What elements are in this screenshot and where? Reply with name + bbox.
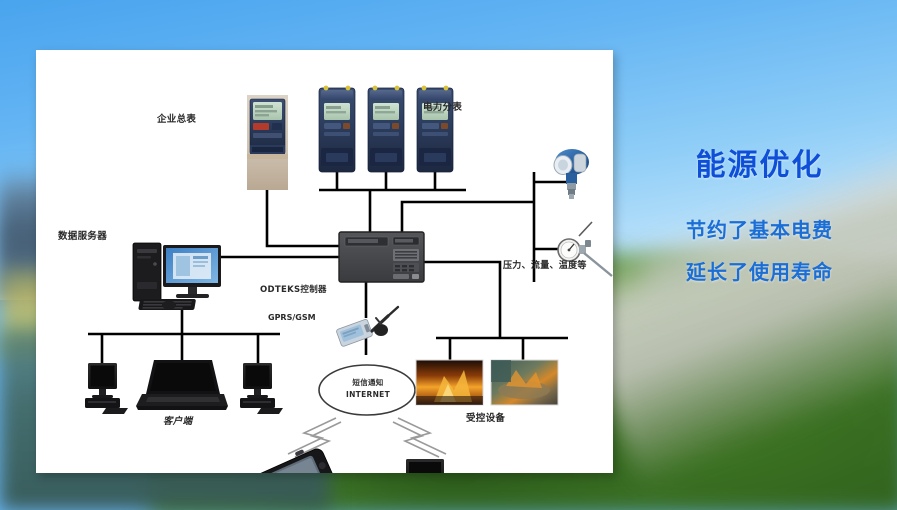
electric-meter-sub-icon-2 — [368, 86, 404, 172]
client-terminal-icon-laptop — [136, 360, 228, 410]
furnace-photo-icon-2 — [491, 360, 558, 405]
label-controller: ODTEKS控制器 — [260, 286, 327, 295]
label-cloud-line1: 短信通知 — [340, 379, 396, 387]
label-cloud-line2: INTERNET — [340, 391, 396, 399]
network-topology-diagram: 企业总表 电力分表 ODTEKS控制器 数据服务器 GPRS/GSM 短信通知 … — [36, 50, 613, 473]
marketing-copy: 能源优化 节约了基本电费 延长了使用寿命 — [622, 140, 897, 285]
slide-canvas: 企业总表 电力分表 ODTEKS控制器 数据服务器 GPRS/GSM 短信通知 … — [0, 0, 897, 510]
label-clients: 客户端 — [163, 417, 192, 427]
client-terminal-icon-1 — [85, 363, 128, 414]
label-main-meter: 企业总表 — [157, 115, 196, 125]
page-title: 能源优化 — [622, 140, 897, 184]
diagram-panel: 企业总表 电力分表 ODTEKS控制器 数据服务器 GPRS/GSM 短信通知 … — [36, 50, 613, 473]
benefit-line-2: 延长了使用寿命 — [622, 256, 897, 285]
label-sub-meters: 电力分表 — [423, 103, 462, 113]
electric-meter-sub-icon-1 — [319, 86, 355, 172]
label-sensors: 压力、流量、温度等 — [503, 262, 587, 272]
desktop-computer-server-icon — [133, 243, 221, 310]
client-terminal-icon-3 — [240, 363, 283, 414]
controller-icon — [339, 232, 424, 282]
pressure-transmitter-icon — [554, 149, 589, 199]
electric-meter-sub-icon-3 — [417, 86, 453, 172]
electric-meter-main-icon — [247, 95, 288, 190]
label-controlled-equipment: 受控设备 — [466, 414, 505, 424]
furnace-photo-icon-1 — [416, 360, 483, 405]
label-gprs-modem: GPRS/GSM — [268, 314, 316, 323]
desktop-computer-remote-icon — [402, 459, 456, 473]
benefit-line-1: 节约了基本电费 — [622, 214, 897, 243]
smartphone-icon — [253, 442, 335, 473]
label-data-server: 数据服务器 — [58, 232, 107, 242]
